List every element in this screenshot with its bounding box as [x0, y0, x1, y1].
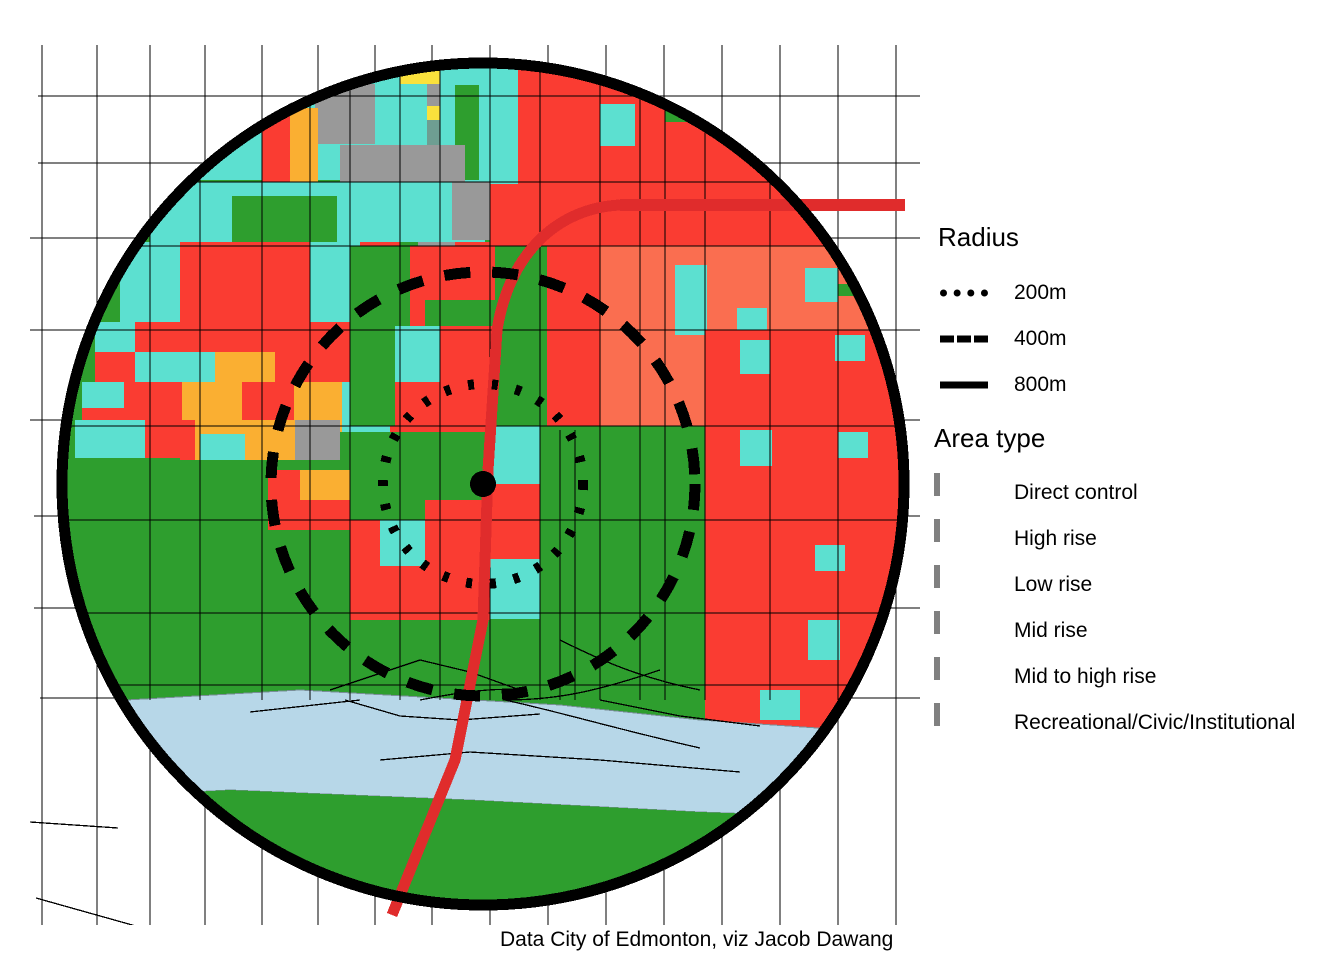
legend-title-area-type: Area type: [934, 423, 1045, 454]
figure-caption: Data City of Edmonton, viz Jacob Dawang: [500, 928, 1100, 952]
dotted-line-icon: [940, 290, 988, 297]
color-swatch-icon: [934, 473, 940, 496]
legend-item-mid-to-high-rise[interactable]: Mid to high rise: [934, 656, 1334, 698]
color-swatch-icon: [934, 519, 940, 542]
high-rise-label: High rise: [1014, 527, 1097, 551]
low-rise-label: Low rise: [1014, 573, 1092, 597]
mid-to-high-rise-label: Mid to high rise: [1014, 665, 1156, 689]
radius-200m-label: 200m: [1014, 281, 1067, 305]
dashed-line-icon: [940, 336, 988, 343]
legend-item-radius-800m[interactable]: 800m: [934, 367, 1314, 403]
radius-800m-key: [934, 368, 994, 402]
color-swatch-icon: [934, 657, 940, 680]
solid-line-icon: [940, 382, 988, 389]
radius-400m-key: [934, 322, 994, 356]
legend-item-high-rise[interactable]: High rise: [934, 518, 1334, 560]
legend-item-mid-rise[interactable]: Mid rise: [934, 610, 1334, 652]
station-marker[interactable]: [470, 471, 496, 497]
legend-title-radius: Radius: [938, 222, 1019, 253]
color-swatch-icon: [934, 703, 940, 726]
radius-200m-key: [934, 276, 994, 310]
low-rise-swatch-key: [934, 568, 994, 602]
color-swatch-icon: [934, 611, 940, 634]
legend-item-direct-control[interactable]: Direct control: [934, 472, 1334, 514]
map-canvas[interactable]: [0, 0, 920, 930]
legend-item-radius-200m[interactable]: 200m: [934, 275, 1314, 311]
mid-to-high-rise-swatch-key: [934, 660, 994, 694]
legend-item-low-rise[interactable]: Low rise: [934, 564, 1334, 606]
recreational-swatch-key: [934, 706, 994, 740]
zoning-map-figure: Zoning around Government LRT station: [0, 0, 1344, 960]
radius-800m-label: 800m: [1014, 373, 1067, 397]
mid-rise-swatch-key: [934, 614, 994, 648]
high-rise-swatch-key: [934, 522, 994, 556]
map-svg[interactable]: [0, 0, 920, 930]
legend-item-recreational-civic-institutional[interactable]: Recreational/Civic/Institutional: [934, 702, 1344, 744]
legend-panel: Radius 200m 400m 800m Area type Dir: [920, 0, 1344, 930]
color-swatch-icon: [934, 565, 940, 588]
direct-control-label: Direct control: [1014, 481, 1138, 505]
radius-400m-label: 400m: [1014, 327, 1067, 351]
direct-control-swatch-key: [934, 476, 994, 510]
parcels-west: [60, 458, 180, 498]
recreational-civic-institutional-label: Recreational/Civic/Institutional: [1014, 711, 1295, 735]
legend-item-radius-400m[interactable]: 400m: [934, 321, 1314, 357]
mid-rise-label: Mid rise: [1014, 619, 1088, 643]
